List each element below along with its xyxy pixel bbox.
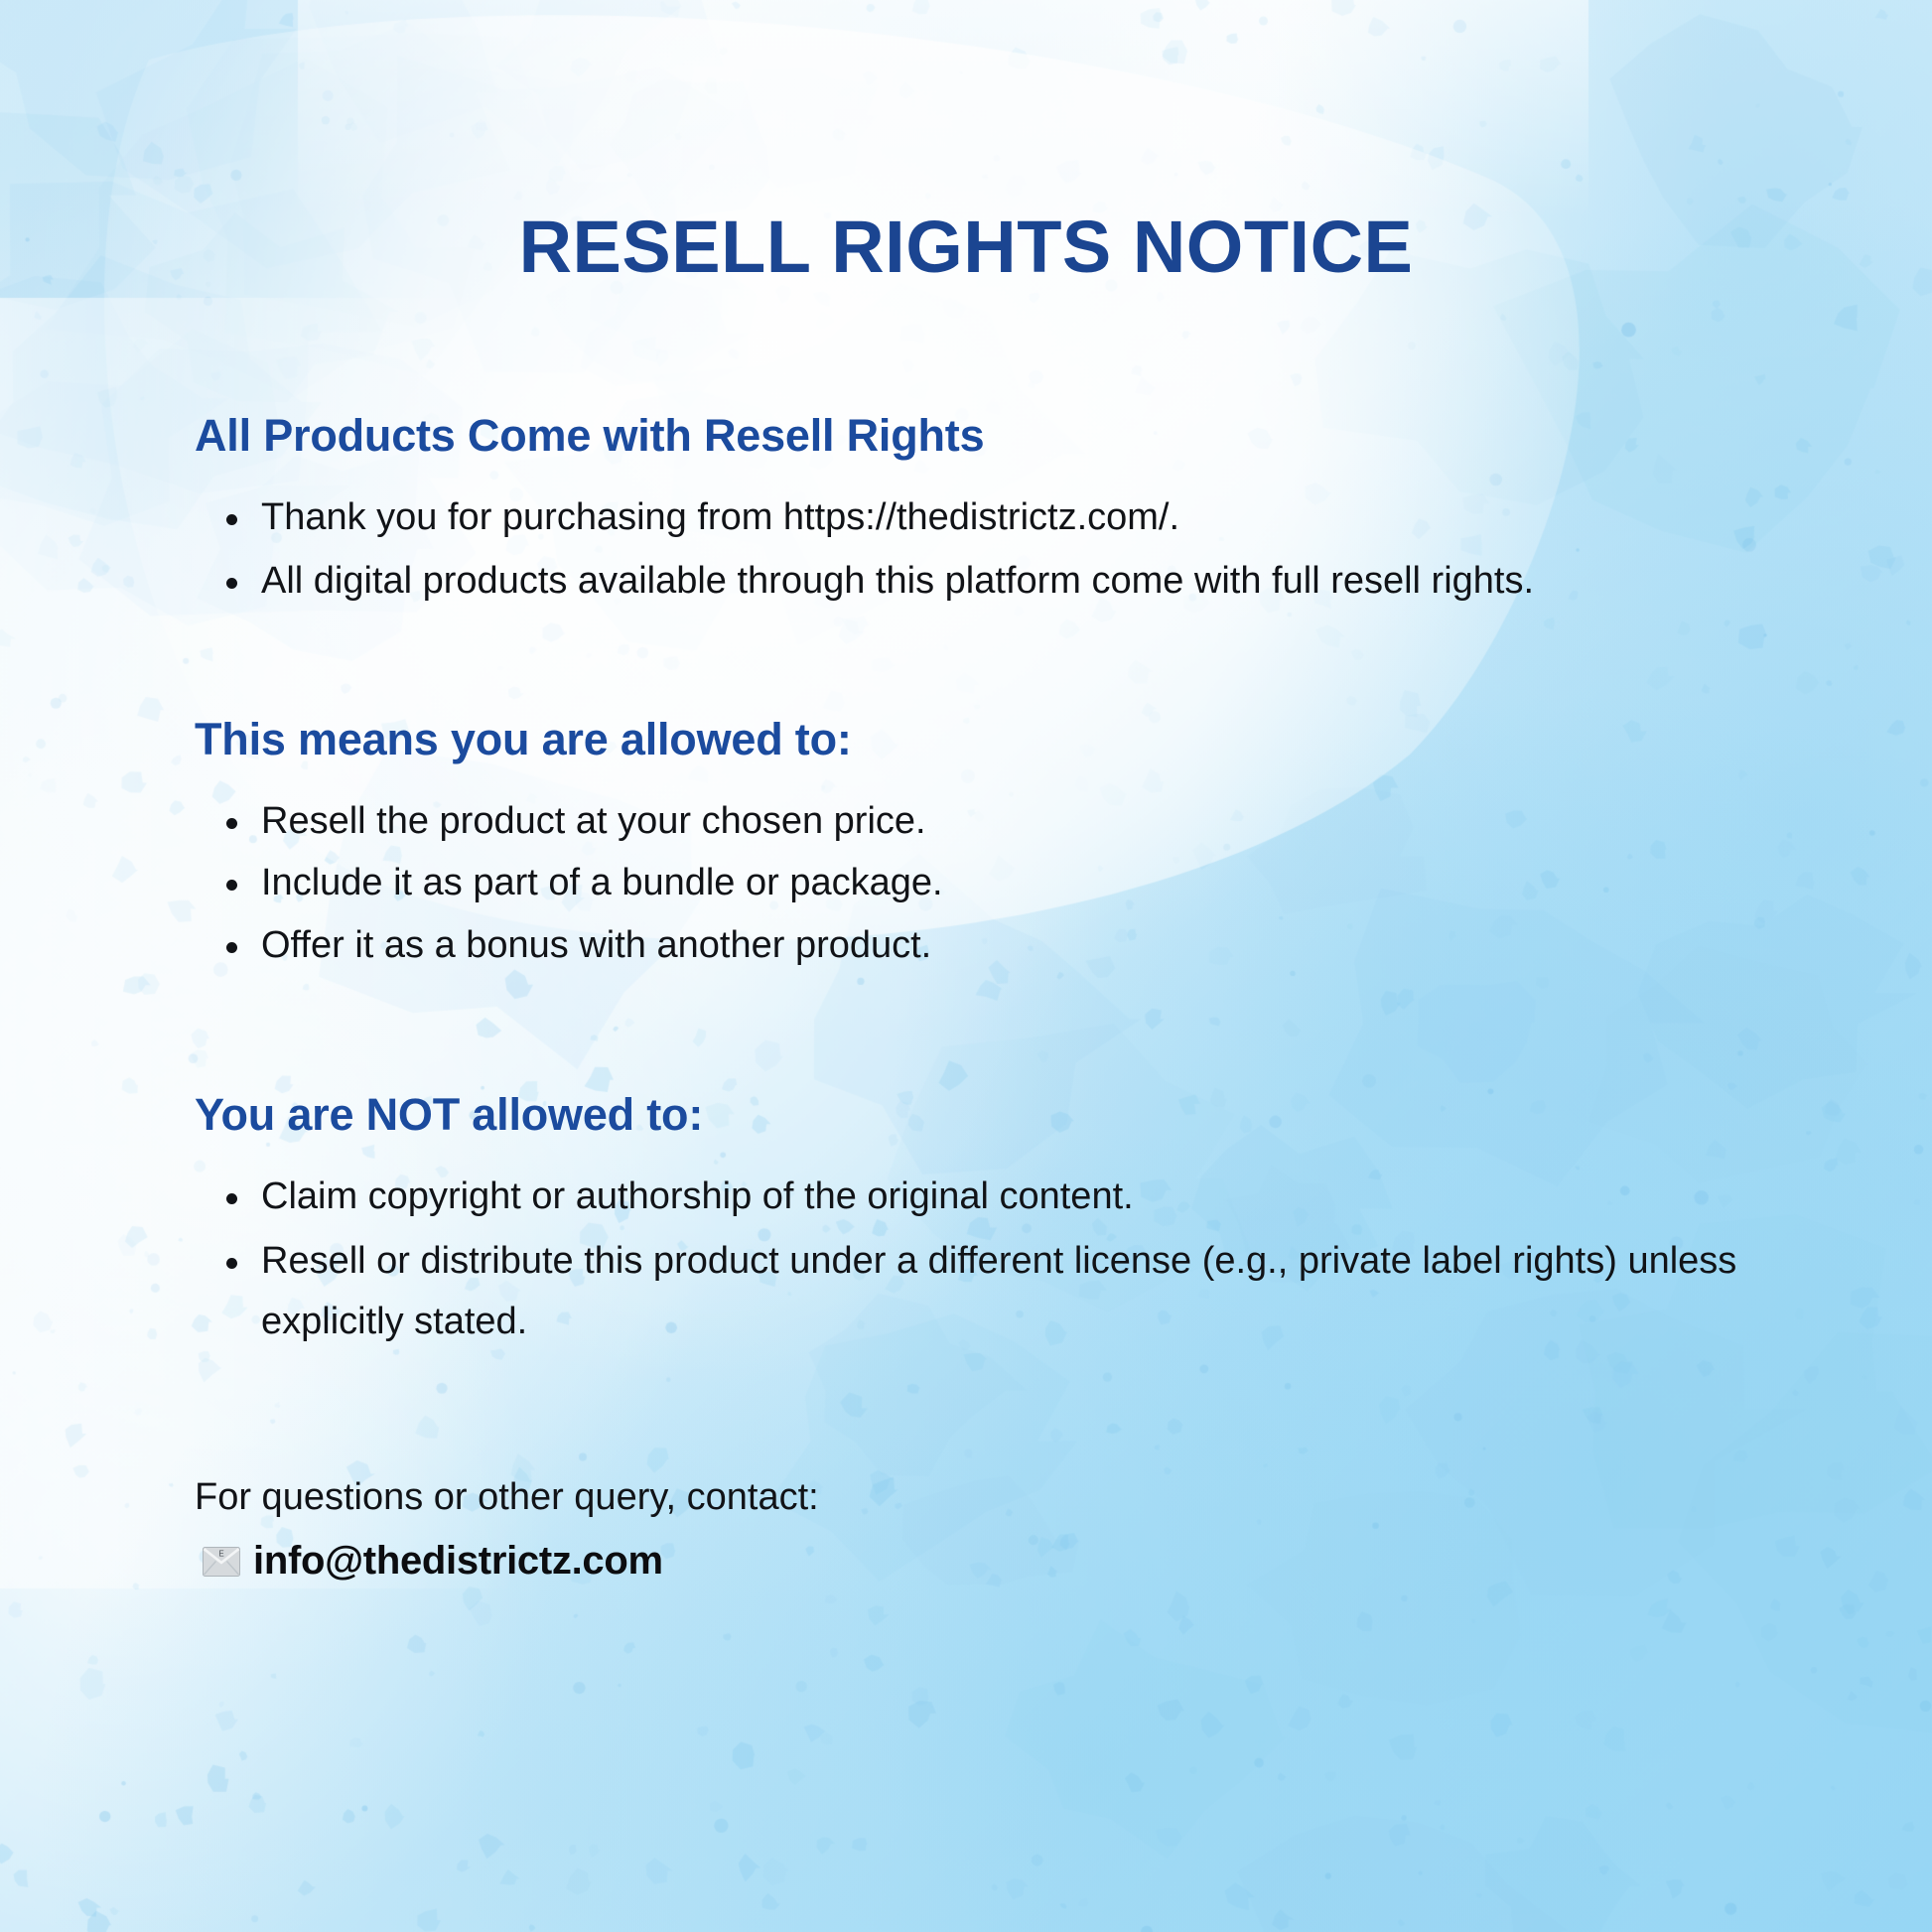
document-page: RESELL RIGHTS NOTICE All Products Come w… bbox=[0, 0, 1932, 1932]
document-body: All Products Come with Resell Rights Tha… bbox=[195, 397, 1843, 1584]
list-item: Offer it as a bonus with another product… bbox=[195, 915, 1843, 977]
envelope-icon: E bbox=[203, 1547, 240, 1577]
list-item: Thank you for purchasing from https://th… bbox=[195, 487, 1843, 549]
bullet-list-not-allowed: Claim copyright or authorship of the ori… bbox=[195, 1167, 1843, 1353]
bullet-list-allowed: Resell the product at your chosen price.… bbox=[195, 791, 1843, 977]
page-title: RESELL RIGHTS NOTICE bbox=[0, 205, 1932, 289]
section-heading-not-allowed: You are NOT allowed to: bbox=[195, 1089, 1843, 1141]
contact-block: For questions or other query, contact: E… bbox=[195, 1467, 1843, 1585]
bullet-list-resell-rights: Thank you for purchasing from https://th… bbox=[195, 487, 1843, 613]
section-heading-resell-rights: All Products Come with Resell Rights bbox=[195, 410, 1843, 462]
contact-email[interactable]: info@thedistrictz.com bbox=[253, 1539, 663, 1584]
list-item: Include it as part of a bundle or packag… bbox=[195, 853, 1843, 914]
section-heading-allowed: This means you are allowed to: bbox=[195, 714, 1843, 765]
contact-prompt: For questions or other query, contact: bbox=[195, 1467, 1843, 1528]
list-item: Resell or distribute this product under … bbox=[195, 1231, 1843, 1353]
list-item: Resell the product at your chosen price. bbox=[195, 791, 1843, 853]
contact-email-row[interactable]: E info@thedistrictz.com bbox=[195, 1539, 1843, 1584]
svg-text:E: E bbox=[218, 1549, 223, 1558]
list-item: All digital products available through t… bbox=[195, 551, 1843, 613]
list-item: Claim copyright or authorship of the ori… bbox=[195, 1167, 1843, 1228]
